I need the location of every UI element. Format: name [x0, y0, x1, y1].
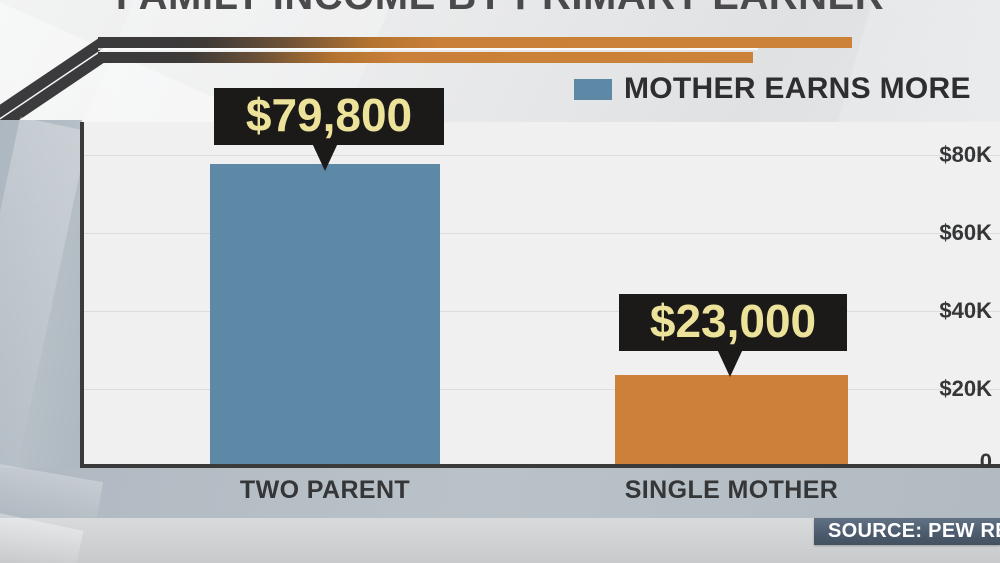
y-axis-line	[80, 122, 84, 470]
accent-bar-sheen	[98, 48, 758, 50]
x-category-label-two-parent: TWO PARENT	[210, 476, 440, 505]
value-callout-tail-single-mother	[717, 349, 743, 377]
y-tick-label-80k: $80K	[939, 142, 992, 168]
y-tick-label-20k: $20K	[939, 376, 992, 402]
gridline-80k	[82, 155, 1000, 156]
value-callout-text-two-parent: $79,800	[246, 91, 412, 139]
y-axis-strip	[0, 120, 82, 500]
y-tick-label-60k: $60K	[939, 220, 992, 246]
y-axis-strip-sheen	[0, 117, 89, 503]
legend-item-label: MOTHER EARNS MORE	[624, 72, 971, 106]
y-tick-label-40k: $40K	[939, 298, 992, 324]
value-callout-text-single-mother: $23,000	[650, 297, 816, 345]
accent-bar-lower	[98, 52, 753, 63]
broadcast-chart-graphic: FAMILY INCOME BY PRIMARY EARNER MOTHER E…	[0, 0, 1000, 563]
value-callout-tail-two-parent	[312, 143, 338, 171]
chart-legend: MOTHER EARNS MORE	[574, 72, 971, 106]
category-label-band	[0, 468, 1000, 518]
legend-swatch-icon	[574, 79, 612, 100]
plot-area	[82, 122, 1000, 466]
accent-bar-upper	[98, 37, 852, 48]
bar-two-parent	[210, 164, 440, 466]
bar-single-mother	[615, 375, 848, 466]
source-text: SOURCE: PEW RE	[814, 520, 1000, 543]
x-category-label-single-mother: SINGLE MOTHER	[615, 476, 848, 505]
source-banner: SOURCE: PEW RE	[814, 518, 1000, 545]
value-callout-two-parent: $79,800	[214, 88, 444, 145]
value-callout-single-mother: $23,000	[619, 294, 847, 351]
